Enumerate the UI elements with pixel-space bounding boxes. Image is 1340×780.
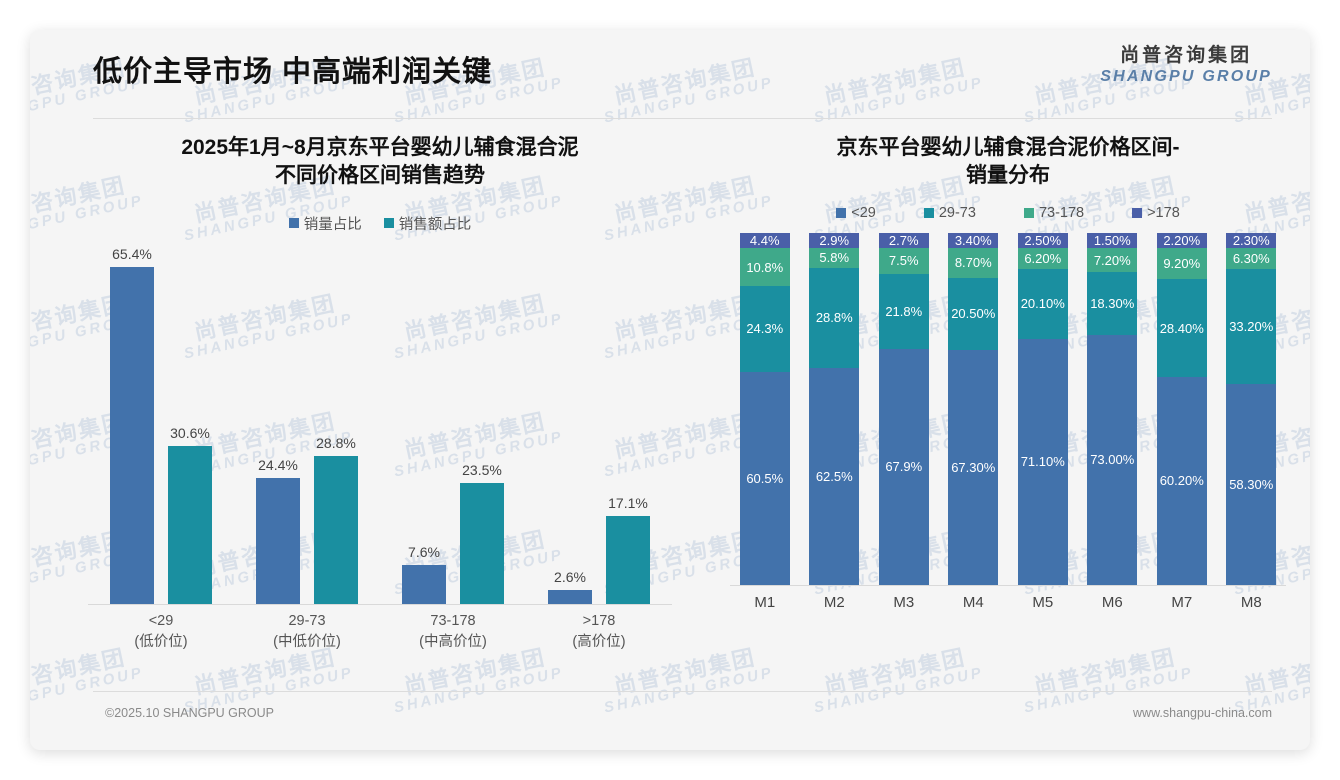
stacked-bar[interactable]: 2.9%5.8%28.8%62.5%	[809, 233, 859, 585]
x-axis-tick-sub: (低价位)	[88, 632, 234, 653]
bar-value-label: 30.6%	[170, 425, 210, 441]
segment-value-label: 73.00%	[1090, 452, 1134, 467]
left-chart-title-line2: 不同价格区间销售趋势	[86, 162, 674, 190]
right-chart-legend: <2929-7373-178>178	[708, 205, 1308, 221]
stacked-bar-column: 2.50%6.20%20.10%71.10%	[1008, 233, 1078, 585]
legend-swatch-icon	[924, 208, 934, 218]
bar-group: 65.4%30.6%	[88, 244, 234, 604]
right-legend-item[interactable]: >178	[1132, 205, 1180, 221]
x-axis-tick-main: 29-73	[234, 611, 380, 632]
legend-label: 73-178	[1039, 205, 1084, 221]
footer-website[interactable]: www.shangpu-china.com	[1133, 706, 1272, 720]
legend-swatch-icon	[384, 218, 394, 228]
bar[interactable]	[606, 516, 650, 604]
stacked-bar[interactable]: 1.50%7.20%18.30%73.00%	[1087, 233, 1137, 585]
stacked-bar[interactable]: 4.4%10.8%24.3%60.5%	[740, 233, 790, 585]
bar-column: 17.1%	[606, 244, 650, 604]
segment-value-label: 4.4%	[750, 233, 780, 248]
footer-divider	[93, 691, 1272, 692]
stacked-bar[interactable]: 2.20%9.20%28.40%60.20%	[1157, 233, 1207, 585]
left-chart-title-line1: 2025年1月~8月京东平台婴幼儿辅食混合泥	[86, 134, 674, 162]
segment-value-label: 2.30%	[1233, 233, 1270, 248]
stacked-bar-segment[interactable]: 2.30%	[1226, 233, 1276, 248]
bar-column: 30.6%	[168, 244, 212, 604]
grouped-bar-plot-area: 65.4%30.6%24.4%28.8%7.6%23.5%2.6%17.1%	[88, 244, 672, 605]
x-axis-tick-sub: (中低价位)	[234, 632, 380, 653]
logo-text-cn: 尚普咨询集团	[1100, 40, 1272, 67]
right-chart-title: 京东平台婴幼儿辅食混合泥价格区间- 销量分布	[708, 134, 1308, 191]
stacked-bar-segment[interactable]: 73.00%	[1087, 335, 1137, 585]
bar[interactable]	[314, 456, 358, 604]
bar-value-label: 7.6%	[408, 544, 440, 560]
stacked-bar-column: 2.30%6.30%33.20%58.30%	[1217, 233, 1287, 585]
x-axis-tick-label: <29(低价位)	[88, 611, 234, 653]
stacked-bar-column: 2.20%9.20%28.40%60.20%	[1147, 233, 1217, 585]
segment-value-label: 20.10%	[1021, 296, 1065, 311]
stacked-bar-segment[interactable]: 18.30%	[1087, 272, 1137, 335]
bar-column: 24.4%	[256, 244, 300, 604]
segment-value-label: 10.8%	[746, 260, 783, 275]
x-axis-tick-label: M1	[730, 594, 800, 611]
stacked-bar-segment[interactable]: 9.20%	[1157, 248, 1207, 280]
segment-value-label: 7.20%	[1094, 253, 1131, 268]
legend-swatch-icon	[289, 218, 299, 228]
stacked-bar-segment[interactable]: 71.10%	[1018, 339, 1068, 585]
bar[interactable]	[460, 483, 504, 604]
stacked-bar-segment[interactable]: 21.8%	[879, 274, 929, 350]
footer-copyright: ©2025.10 SHANGPU GROUP	[105, 706, 274, 720]
stacked-bar-segment[interactable]: 3.40%	[948, 233, 998, 248]
logo-text-en: SHANGPU GROUP	[1100, 68, 1272, 86]
stacked-bar-segment[interactable]: 62.5%	[809, 368, 859, 585]
segment-value-label: 67.9%	[885, 459, 922, 474]
stacked-bar-segment[interactable]: 33.20%	[1226, 269, 1276, 383]
grouped-bar-x-axis: <29(低价位)29-73(中低价位)73-178(中高价位)>178(高价位)	[88, 611, 672, 653]
stacked-bar[interactable]: 2.50%6.20%20.10%71.10%	[1018, 233, 1068, 585]
bar-value-label: 17.1%	[608, 495, 648, 511]
x-axis-tick-label: M3	[869, 594, 939, 611]
bar-value-label: 24.4%	[258, 457, 298, 473]
stacked-bar-segment[interactable]: 24.3%	[740, 286, 790, 372]
stacked-bar-segment[interactable]: 28.8%	[809, 268, 859, 368]
page-title: 低价主导市场 中高端利润关键	[93, 48, 492, 90]
stacked-bar-column: 3.40%8.70%20.50%67.30%	[939, 233, 1009, 585]
stacked-bar-column: 2.9%5.8%28.8%62.5%	[800, 233, 870, 585]
right-legend-item[interactable]: <29	[836, 205, 876, 221]
stacked-bar-segment[interactable]: 5.8%	[809, 248, 859, 268]
legend-swatch-icon	[836, 208, 846, 218]
right-chart-panel: 京东平台婴幼儿辅食混合泥价格区间- 销量分布 <2929-7373-178>17…	[708, 126, 1308, 688]
stacked-bar-segment[interactable]: 28.40%	[1157, 279, 1207, 377]
stacked-bar-segment[interactable]: 6.20%	[1018, 248, 1068, 269]
x-axis-tick-main: <29	[88, 611, 234, 632]
segment-value-label: 58.30%	[1229, 477, 1273, 492]
stacked-bar[interactable]: 3.40%8.70%20.50%67.30%	[948, 233, 998, 585]
segment-value-label: 2.20%	[1163, 233, 1200, 248]
x-axis-tick-label: >178(高价位)	[526, 611, 672, 653]
legend-label: >178	[1147, 205, 1180, 221]
stacked-bar-segment[interactable]: 8.70%	[948, 248, 998, 278]
legend-swatch-icon	[1132, 208, 1142, 218]
segment-value-label: 28.40%	[1160, 321, 1204, 336]
stacked-bar-x-axis: M1M2M3M4M5M6M7M8	[730, 594, 1286, 611]
segment-value-label: 2.9%	[819, 233, 849, 248]
x-axis-tick-main: 73-178	[380, 611, 526, 632]
segment-value-label: 71.10%	[1021, 454, 1065, 469]
slide-card: 尚普咨询集团SHANGPU GROUP尚普咨询集团SHANGPU GROUP尚普…	[30, 30, 1310, 750]
stacked-bar-segment[interactable]: 7.20%	[1087, 248, 1137, 273]
legend-label: <29	[851, 205, 876, 221]
segment-value-label: 1.50%	[1094, 233, 1131, 248]
bar[interactable]	[110, 267, 154, 603]
bar-group: 2.6%17.1%	[526, 244, 672, 604]
bar-column: 2.6%	[548, 244, 592, 604]
legend-label: 29-73	[939, 205, 976, 221]
segment-value-label: 7.5%	[889, 253, 919, 268]
x-axis-tick-sub: (高价位)	[526, 632, 672, 653]
segment-value-label: 2.7%	[889, 233, 919, 248]
bar[interactable]	[402, 565, 446, 604]
left-chart-legend: 销量占比销售额占比	[60, 213, 700, 234]
bar[interactable]	[256, 478, 300, 603]
bar-column: 65.4%	[110, 244, 154, 604]
stacked-bar[interactable]: 2.30%6.30%33.20%58.30%	[1226, 233, 1276, 585]
stacked-bar-column: 1.50%7.20%18.30%73.00%	[1078, 233, 1148, 585]
x-axis-tick-label: 29-73(中低价位)	[234, 611, 380, 653]
x-axis-tick-label: M5	[1008, 594, 1078, 611]
bar-column: 7.6%	[402, 244, 446, 604]
stacked-bar-segment[interactable]: 7.5%	[879, 248, 929, 274]
bar-column: 23.5%	[460, 244, 504, 604]
legend-label: 销售额占比	[399, 213, 472, 234]
segment-value-label: 60.20%	[1160, 473, 1204, 488]
bar-value-label: 65.4%	[112, 246, 152, 262]
stacked-bar-segment[interactable]: 6.30%	[1226, 248, 1276, 270]
legend-swatch-icon	[1024, 208, 1034, 218]
brand-logo: 尚普咨询集团 SHANGPU GROUP	[1100, 40, 1272, 86]
stacked-bar-segment[interactable]: 67.9%	[879, 349, 929, 584]
segment-value-label: 2.50%	[1024, 233, 1061, 248]
stacked-bar-segment[interactable]: 2.7%	[879, 233, 929, 248]
bar-column: 28.8%	[314, 244, 358, 604]
left-chart-title: 2025年1月~8月京东平台婴幼儿辅食混合泥 不同价格区间销售趋势	[60, 134, 700, 191]
segment-value-label: 18.30%	[1090, 296, 1134, 311]
x-axis-tick-label: M7	[1147, 594, 1217, 611]
x-axis-tick-label: 73-178(中高价位)	[380, 611, 526, 653]
stacked-bar[interactable]: 2.7%7.5%21.8%67.9%	[879, 233, 929, 585]
stacked-bar-segment[interactable]: 20.50%	[948, 278, 998, 350]
segment-value-label: 8.70%	[955, 255, 992, 270]
x-axis-tick-label: M4	[939, 594, 1009, 611]
stacked-bar-column: 4.4%10.8%24.3%60.5%	[730, 233, 800, 585]
segment-value-label: 60.5%	[746, 471, 783, 486]
segment-value-label: 20.50%	[951, 306, 995, 321]
bar-value-label: 23.5%	[462, 462, 502, 478]
bar-group: 24.4%28.8%	[234, 244, 380, 604]
bar[interactable]	[168, 446, 212, 603]
stacked-bar-segment[interactable]: 2.20%	[1157, 233, 1207, 248]
right-chart-title-line1: 京东平台婴幼儿辅食混合泥价格区间-	[734, 134, 1282, 162]
bar-value-label: 2.6%	[554, 569, 586, 585]
stacked-bar-segment[interactable]: 20.10%	[1018, 269, 1068, 339]
charts-container: 2025年1月~8月京东平台婴幼儿辅食混合泥 不同价格区间销售趋势 销量占比销售…	[30, 126, 1310, 688]
segment-value-label: 6.20%	[1024, 251, 1061, 266]
right-legend-item[interactable]: 73-178	[1024, 205, 1084, 221]
right-legend-item[interactable]: 29-73	[924, 205, 976, 221]
x-axis-tick-main: >178	[526, 611, 672, 632]
stacked-bar-segment[interactable]: 67.30%	[948, 350, 998, 585]
segment-value-label: 3.40%	[955, 233, 992, 248]
segment-value-label: 6.30%	[1233, 251, 1270, 266]
left-legend-item[interactable]: 销售额占比	[384, 213, 472, 234]
segment-value-label: 5.8%	[819, 250, 849, 265]
stacked-bar-plot-area: 4.4%10.8%24.3%60.5%2.9%5.8%28.8%62.5%2.7…	[730, 233, 1286, 586]
slide-header: 低价主导市场 中高端利润关键 尚普咨询集团 SHANGPU GROUP	[30, 30, 1310, 102]
right-chart-title-line2: 销量分布	[734, 162, 1282, 190]
x-axis-tick-label: M6	[1078, 594, 1148, 611]
stacked-bar-segment[interactable]: 4.4%	[740, 233, 790, 248]
segment-value-label: 67.30%	[951, 460, 995, 475]
x-axis-tick-sub: (中高价位)	[380, 632, 526, 653]
grouped-bar-chart: 65.4%30.6%24.4%28.8%7.6%23.5%2.6%17.1% <…	[60, 244, 700, 644]
stacked-bar-segment[interactable]: 58.30%	[1226, 384, 1276, 585]
stacked-bar-segment[interactable]: 10.8%	[740, 248, 790, 286]
header-divider	[93, 118, 1272, 119]
x-axis-tick-label: M8	[1217, 594, 1287, 611]
stacked-bar-segment[interactable]: 2.9%	[809, 233, 859, 248]
bar[interactable]	[548, 590, 592, 603]
segment-value-label: 33.20%	[1229, 319, 1273, 334]
stacked-bar-column: 2.7%7.5%21.8%67.9%	[869, 233, 939, 585]
stacked-bar-chart: 4.4%10.8%24.3%60.5%2.9%5.8%28.8%62.5%2.7…	[708, 233, 1308, 633]
slide-footer: ©2025.10 SHANGPU GROUP www.shangpu-china…	[30, 706, 1310, 726]
stacked-bar-segment[interactable]: 2.50%	[1018, 233, 1068, 248]
left-legend-item[interactable]: 销量占比	[289, 213, 362, 234]
x-axis-tick-label: M2	[800, 594, 870, 611]
segment-value-label: 62.5%	[816, 469, 853, 484]
left-chart-panel: 2025年1月~8月京东平台婴幼儿辅食混合泥 不同价格区间销售趋势 销量占比销售…	[60, 126, 700, 688]
segment-value-label: 24.3%	[746, 321, 783, 336]
segment-value-label: 28.8%	[816, 310, 853, 325]
stacked-bar-segment[interactable]: 60.20%	[1157, 377, 1207, 584]
bar-value-label: 28.8%	[316, 435, 356, 451]
segment-value-label: 9.20%	[1163, 256, 1200, 271]
bar-group: 7.6%23.5%	[380, 244, 526, 604]
stacked-bar-segment[interactable]: 60.5%	[740, 372, 790, 585]
segment-value-label: 21.8%	[885, 304, 922, 319]
stacked-bar-segment[interactable]: 1.50%	[1087, 233, 1137, 248]
legend-label: 销量占比	[304, 213, 362, 234]
